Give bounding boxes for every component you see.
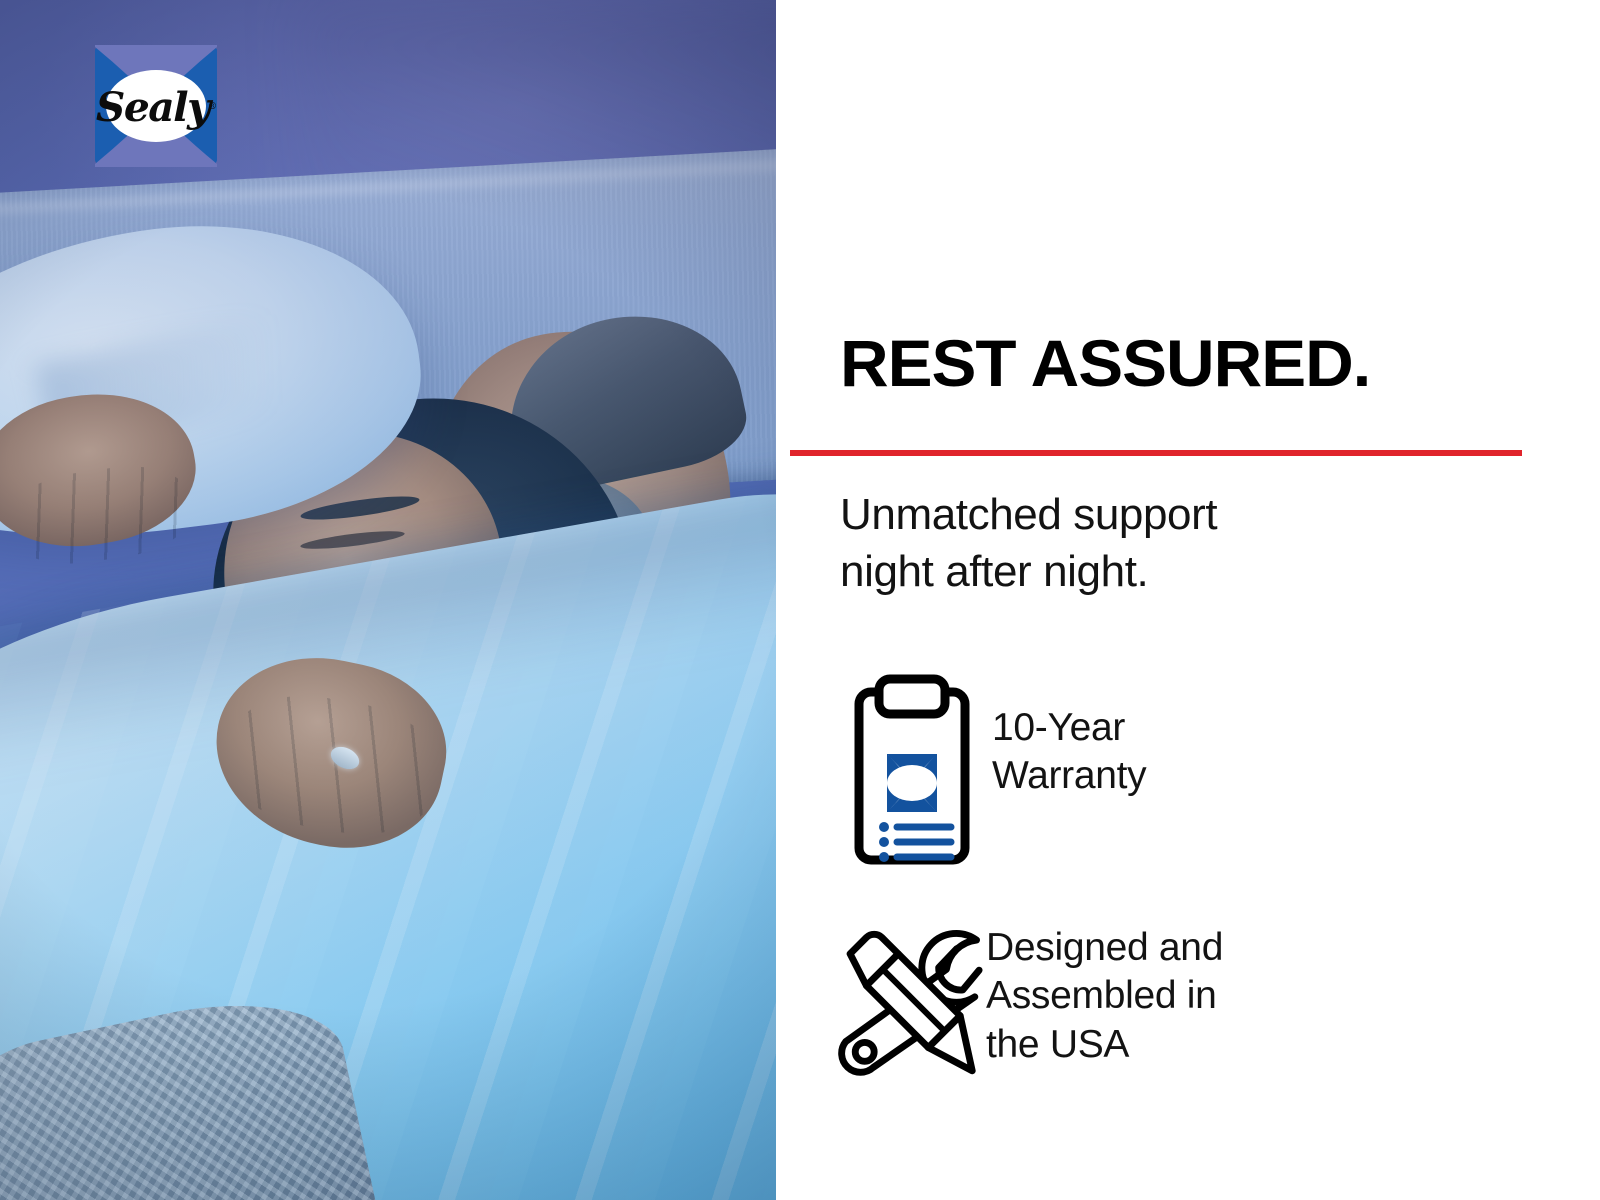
clipboard-sealy-ellipse — [887, 765, 937, 801]
subheadline-line-1: Unmatched support — [840, 486, 1217, 543]
feature-made-in-usa: Designed and Assembled in the USA — [826, 912, 1223, 1092]
clipboard-clip — [879, 679, 945, 714]
headline: REST ASSURED. — [840, 330, 1370, 396]
pencil-wrench-icon — [826, 912, 986, 1092]
clipboard-bullet-2 — [879, 837, 889, 847]
bedroom-photo: Sealy® — [0, 0, 776, 1200]
feature-warranty-line-2: Warranty — [992, 752, 1146, 800]
clipboard-icon — [832, 672, 992, 868]
sealy-wordmark: Sealy® — [85, 45, 227, 167]
feature-warranty-line-1: 10-Year — [992, 704, 1146, 752]
subheadline: Unmatched support night after night. — [840, 486, 1217, 600]
sealy-logo: Sealy® — [85, 45, 227, 167]
feature-usa-line-2: Assembled in — [986, 972, 1223, 1020]
sealy-rest-assured-ad: Sealy® REST ASSURED. Unmatched support n… — [0, 0, 1600, 1200]
feature-usa-line-1: Designed and — [986, 924, 1223, 972]
clipboard-bullet-3 — [879, 852, 889, 862]
content-panel: REST ASSURED. Unmatched support night af… — [776, 0, 1600, 1200]
feature-usa-text: Designed and Assembled in the USA — [986, 912, 1223, 1069]
feature-warranty: 10-Year Warranty — [832, 672, 1146, 868]
clipboard-bullet-1 — [879, 822, 889, 832]
red-divider-rule — [790, 450, 1522, 456]
sealy-wordmark-text: Sealy — [96, 84, 209, 131]
wrench-handle-hole — [855, 1042, 874, 1061]
subheadline-line-2: night after night. — [840, 543, 1217, 600]
registered-mark: ® — [208, 102, 216, 112]
feature-usa-line-3: the USA — [986, 1021, 1223, 1069]
feature-warranty-text: 10-Year Warranty — [992, 672, 1146, 801]
